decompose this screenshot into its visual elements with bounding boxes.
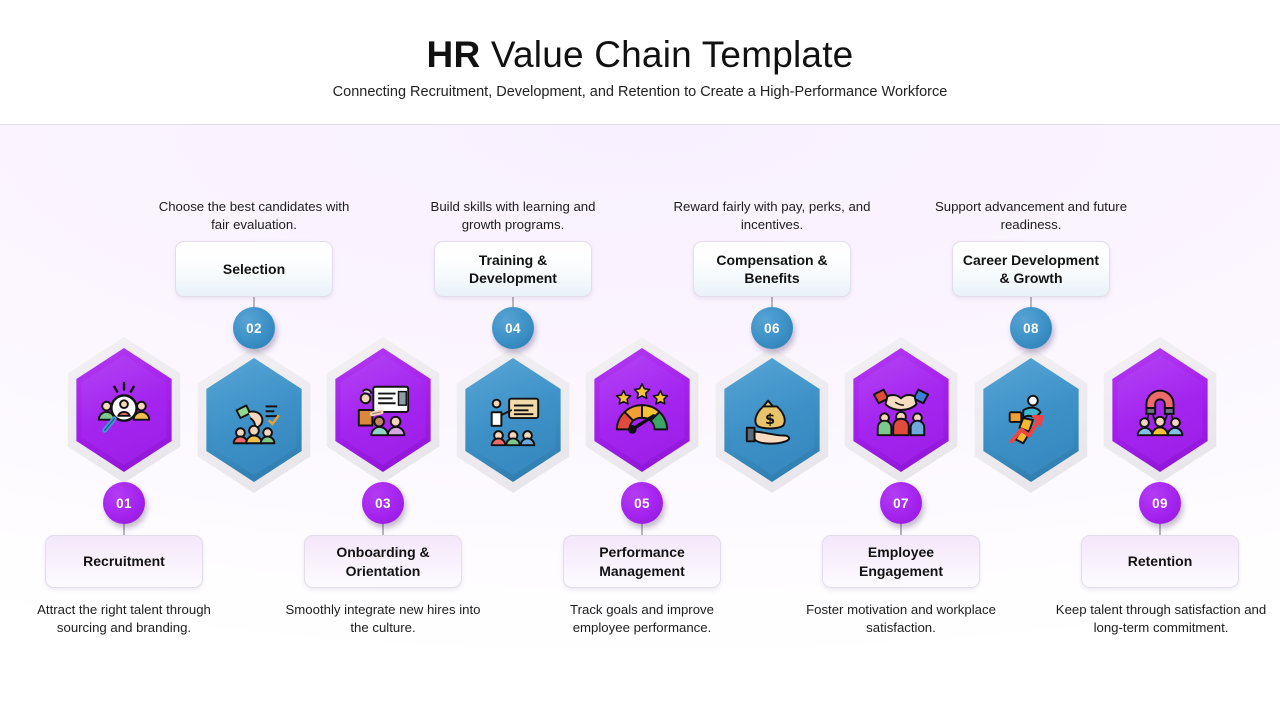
step-card-04[interactable]: Training & Development [434, 241, 592, 297]
step-card-05[interactable]: Performance Management [563, 535, 721, 588]
step-label-05: Performance Management [572, 543, 712, 580]
title-rest: Value Chain Template [480, 34, 853, 75]
description-step-08: Support advancement and future readiness… [931, 198, 1131, 233]
step-label-01: Recruitment [83, 552, 165, 570]
orientation-presentation-icon [348, 375, 418, 445]
training-classroom-icon [478, 385, 548, 455]
career-growth-arrow-icon [996, 385, 1066, 455]
step-label-07: Employee Engagement [831, 543, 971, 580]
money-bag-hand-icon: $ [737, 385, 807, 455]
description-step-03: Smoothly integrate new hires into the cu… [282, 601, 484, 636]
step-card-07[interactable]: Employee Engagement [822, 535, 980, 588]
step-badge-08[interactable]: 08 [1010, 307, 1052, 349]
step-badge-03[interactable]: 03 [362, 482, 404, 524]
step-badge-07[interactable]: 07 [880, 482, 922, 524]
step-label-09: Retention [1128, 552, 1193, 570]
step-badge-06[interactable]: 06 [751, 307, 793, 349]
step-label-08: Career Development & Growth [961, 251, 1101, 288]
magnet-people-icon [1125, 375, 1195, 445]
svg-text:$: $ [765, 412, 775, 428]
description-step-06: Reward fairly with pay, perks, and incen… [672, 198, 872, 233]
description-step-07: Foster motivation and workplace satisfac… [800, 601, 1002, 636]
step-badge-04[interactable]: 04 [492, 307, 534, 349]
candidate-pick-icon [219, 385, 289, 455]
step-card-02[interactable]: Selection [175, 241, 333, 297]
talent-search-icon [89, 375, 159, 445]
description-step-04: Build skills with learning and growth pr… [413, 198, 613, 233]
handshake-team-icon [866, 375, 936, 445]
step-label-06: Compensation & Benefits [702, 251, 842, 288]
page-title: HR Value Chain Template [0, 34, 1280, 76]
step-label-03: Onboarding & Orientation [313, 543, 453, 580]
description-step-01: Attract the right talent through sourcin… [19, 601, 229, 636]
step-badge-05[interactable]: 05 [621, 482, 663, 524]
performance-gauge-icon [607, 375, 677, 445]
step-badge-02[interactable]: 02 [233, 307, 275, 349]
step-label-04: Training & Development [443, 251, 583, 288]
description-step-05: Track goals and improve employee perform… [541, 601, 743, 636]
step-card-08[interactable]: Career Development & Growth [952, 241, 1110, 297]
step-card-03[interactable]: Onboarding & Orientation [304, 535, 462, 588]
step-card-06[interactable]: Compensation & Benefits [693, 241, 851, 297]
description-step-02: Choose the best candidates with fair eva… [154, 198, 354, 233]
step-card-01[interactable]: Recruitment [45, 535, 203, 588]
step-badge-09[interactable]: 09 [1139, 482, 1181, 524]
step-badge-01[interactable]: 01 [103, 482, 145, 524]
step-label-02: Selection [223, 260, 285, 278]
infographic-canvas: HR Value Chain Template Connecting Recru… [0, 0, 1280, 720]
description-step-09: Keep talent through satisfaction and lon… [1055, 601, 1267, 636]
page-subtitle: Connecting Recruitment, Development, and… [0, 84, 1280, 100]
title-strong: HR [427, 34, 481, 75]
header: HR Value Chain Template Connecting Recru… [0, 0, 1280, 125]
step-card-09[interactable]: Retention [1081, 535, 1239, 588]
